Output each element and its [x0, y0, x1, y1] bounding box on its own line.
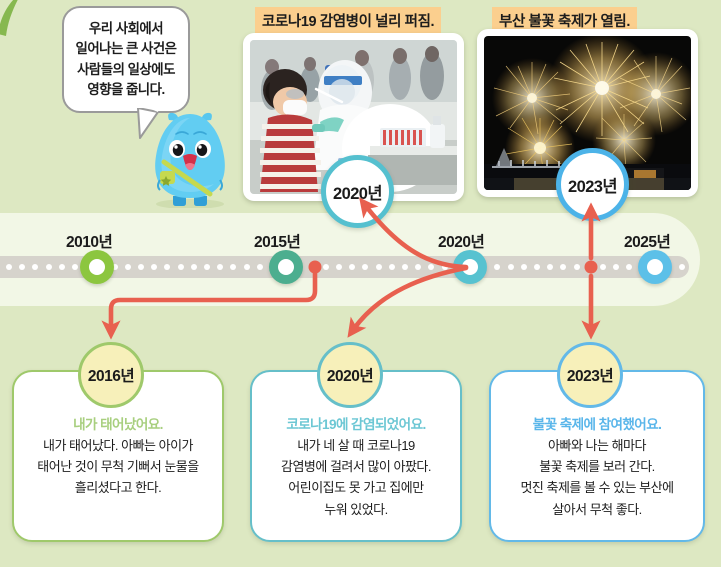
rail-dot	[32, 264, 38, 270]
rail-dot	[191, 264, 197, 270]
rail-dot	[442, 264, 448, 270]
rail-dot	[164, 264, 170, 270]
rail-dot	[415, 264, 421, 270]
rail-dot	[310, 264, 316, 270]
rail-dot	[151, 264, 157, 270]
card-body-line: 어린이집도 못 가고 집에만	[257, 477, 455, 498]
card-body-line: 누워 있었다.	[257, 499, 455, 520]
mascot-character	[140, 108, 240, 208]
rail-dot	[376, 264, 382, 270]
card-body-line: 멋진 축제를 볼 수 있는 부산에	[496, 477, 698, 498]
rail-dot	[138, 264, 144, 270]
card-body-line: 흘리셨다고 한다.	[19, 477, 217, 498]
rail-dot	[508, 264, 514, 270]
card-badge-2020: 2020년	[317, 342, 383, 408]
rail-dot	[349, 264, 355, 270]
rail-dot	[428, 264, 434, 270]
rail-dot	[19, 264, 25, 270]
rail-dot	[125, 264, 131, 270]
card-body-line: 불꽃 축제를 보러 간다.	[496, 456, 698, 477]
rail-dot	[204, 264, 210, 270]
rail-dot	[336, 264, 342, 270]
card-heading-2020: 코로나19에 감염되었어요.	[252, 413, 460, 433]
card-badge-2016: 2016년	[78, 342, 144, 408]
rail-dot	[521, 264, 527, 270]
rail-dot	[600, 264, 606, 270]
rail-dot	[59, 264, 65, 270]
photo-badge-2023: 2023년	[556, 148, 629, 221]
leaf-decoration-icon	[0, 0, 32, 36]
rail-dot	[534, 264, 540, 270]
card-body-line: 감염병에 걸려서 많이 아팠다.	[257, 456, 455, 477]
rail-dot	[389, 264, 395, 270]
rail-dot	[178, 264, 184, 270]
card-heading-2023: 불꽃 축제에 참여했어요.	[491, 413, 703, 433]
rail-dot	[574, 264, 580, 270]
card-body-2016: 내가 태어났다. 아빠는 아이가 태어난 것이 무척 기뻐서 눈물을 흘리셨다고…	[19, 435, 217, 499]
card-body-line: 내가 네 살 때 코로나19	[257, 435, 455, 456]
speech-line: 사람들의 일상에도	[77, 60, 175, 80]
rail-dot	[6, 264, 12, 270]
rail-dot	[72, 264, 78, 270]
speech-line: 일어나는 큰 사건은	[76, 39, 177, 59]
rail-dot	[560, 264, 566, 270]
card-body-line: 살아서 무척 좋다.	[496, 499, 698, 520]
card-body-line: 아빠와 나는 해마다	[496, 435, 698, 456]
rail-dot	[679, 264, 685, 270]
timeline-label-2010: 2010년	[66, 230, 112, 252]
timeline-node-2015[interactable]	[269, 250, 303, 284]
rail-dot	[362, 264, 368, 270]
photo-badge-2020: 2020년	[321, 155, 394, 228]
rail-dot	[402, 264, 408, 270]
rail-dot	[547, 264, 553, 270]
card-heading-2016: 내가 태어났어요.	[14, 413, 222, 433]
rail-dot	[613, 264, 619, 270]
infographic-root: 코로나19 감염병이 널리 퍼짐. 부산 불꽃 축제가 열림. 우리 사회에서 …	[0, 0, 721, 567]
speech-line: 영향을 줍니다.	[87, 80, 164, 100]
rail-dot	[494, 264, 500, 270]
card-body-2023: 아빠와 나는 해마다 불꽃 축제를 보러 간다. 멋진 축제를 볼 수 있는 부…	[496, 435, 698, 520]
card-body-line: 내가 태어났다. 아빠는 아이가	[19, 435, 217, 456]
rail-dot	[323, 264, 329, 270]
timeline-label-2020: 2020년	[438, 230, 484, 252]
rail-dot	[46, 264, 52, 270]
rail-dot	[626, 264, 632, 270]
card-badge-2023: 2023년	[557, 342, 623, 408]
rail-dot	[217, 264, 223, 270]
rail-dot	[257, 264, 263, 270]
rail-dot	[230, 264, 236, 270]
timeline-node-2020[interactable]	[453, 250, 487, 284]
timeline-label-2025: 2025년	[624, 230, 670, 252]
rail-dot	[587, 264, 593, 270]
timeline-label-2015: 2015년	[254, 230, 300, 252]
rail-dot	[244, 264, 250, 270]
card-body-line: 태어난 것이 무척 기뻐서 눈물을	[19, 456, 217, 477]
speech-line: 우리 사회에서	[89, 19, 163, 39]
timeline-node-2010[interactable]	[80, 250, 114, 284]
mascot-speech-bubble: 우리 사회에서 일어나는 큰 사건은 사람들의 일상에도 영향을 줍니다.	[62, 6, 190, 113]
card-body-2020: 내가 네 살 때 코로나19 감염병에 걸려서 많이 아팠다. 어린이집도 못 …	[257, 435, 455, 520]
tag-covid-event: 코로나19 감염병이 널리 퍼짐.	[255, 7, 441, 35]
timeline-node-2025[interactable]	[638, 250, 672, 284]
